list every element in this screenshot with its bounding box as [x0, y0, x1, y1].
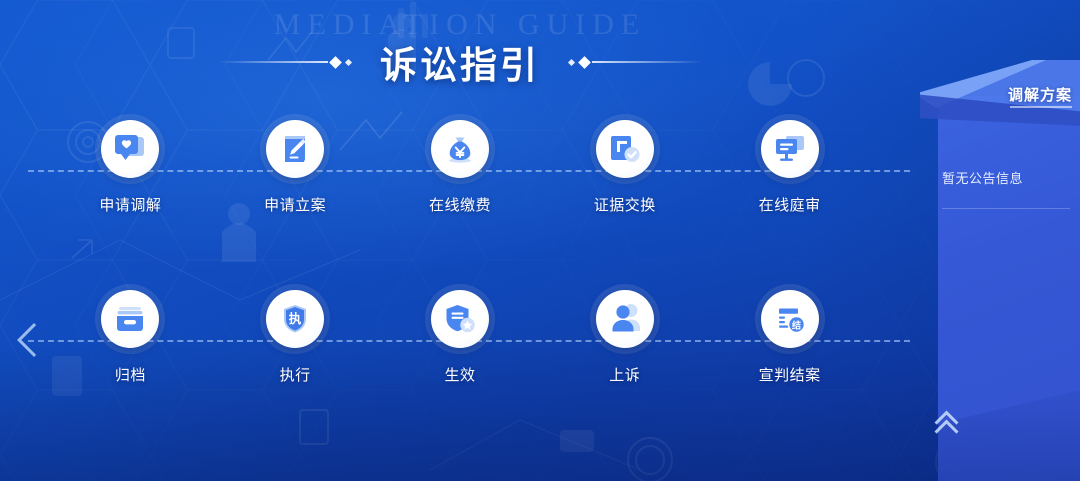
flow-row-2: 归档 执 执行 [0, 290, 920, 410]
flow-step-label: 在线庭审 [759, 194, 821, 215]
monitor-screen-icon [761, 120, 819, 178]
flow-step-label: 申请立案 [264, 194, 326, 215]
side-panel-divider [942, 208, 1070, 209]
page-root: MEDIATION GUIDE 诉讼指引 [0, 0, 1080, 481]
shield-zhi-icon: 执 [266, 290, 324, 348]
flow-step-apply-filing[interactable]: 申请立案 [235, 120, 355, 215]
flow-step-label: 证据交换 [594, 194, 656, 215]
side-panel: 调解方案 暂无公告信息 [920, 0, 1080, 481]
title-row: 诉讼指引 [0, 34, 920, 90]
svg-text:结: 结 [792, 319, 801, 331]
flow-nodes-row1: 申请调解 申请立案 [0, 120, 920, 240]
flow-step-appeal[interactable]: 上诉 [565, 290, 685, 385]
title-decoration-left [218, 58, 354, 67]
diamond-icon [329, 56, 342, 69]
diamond-small-icon [568, 58, 575, 65]
flow-step-online-trial[interactable]: 在线庭审 [730, 120, 850, 215]
flow-step-archive[interactable]: 归档 [70, 290, 190, 385]
flow-step-label: 申请调解 [99, 194, 161, 215]
svg-text:执: 执 [289, 311, 302, 326]
decoration-line [592, 61, 702, 63]
side-panel-empty-text: 暂无公告信息 [942, 168, 1023, 187]
flow-step-label: 上诉 [609, 364, 640, 385]
back-to-top-button[interactable] [930, 410, 962, 442]
shield-star-icon [431, 290, 489, 348]
page-header: MEDIATION GUIDE 诉讼指引 [0, 0, 920, 110]
title-decoration-right [566, 58, 702, 67]
flow-nodes-row2: 归档 执 执行 [0, 290, 920, 410]
decoration-line [218, 61, 328, 63]
user-person-icon [596, 290, 654, 348]
document-check-icon [596, 120, 654, 178]
flow-step-evidence-exchange[interactable]: 证据交换 [565, 120, 685, 215]
diamond-icon [578, 56, 591, 69]
flow-step-online-payment[interactable]: 在线缴费 [400, 120, 520, 215]
side-panel-title: 调解方案 [1008, 84, 1072, 105]
flow-step-label: 执行 [280, 364, 311, 385]
flow-step-enforcement[interactable]: 执 执行 [235, 290, 355, 385]
side-panel-title-underline [1010, 106, 1072, 108]
flow-step-label: 在线缴费 [429, 194, 491, 215]
document-pen-icon [266, 120, 324, 178]
page-title: 诉讼指引 [354, 35, 566, 89]
money-bag-yuan-icon [431, 120, 489, 178]
document-jie-badge-icon: 结 [761, 290, 819, 348]
archive-box-icon [101, 290, 159, 348]
speech-bubble-heart-icon [101, 120, 159, 178]
diamond-small-icon [345, 58, 352, 65]
flow-row-1: 申请调解 申请立案 [0, 120, 920, 240]
flow-step-apply-mediation[interactable]: 申请调解 [70, 120, 190, 215]
flow-step-effective[interactable]: 生效 [400, 290, 520, 385]
flow-step-verdict-closing[interactable]: 结 宣判结案 [730, 290, 850, 385]
flow-step-label: 宣判结案 [759, 364, 821, 385]
flow-step-label: 归档 [115, 364, 146, 385]
flow-step-label: 生效 [444, 364, 475, 385]
